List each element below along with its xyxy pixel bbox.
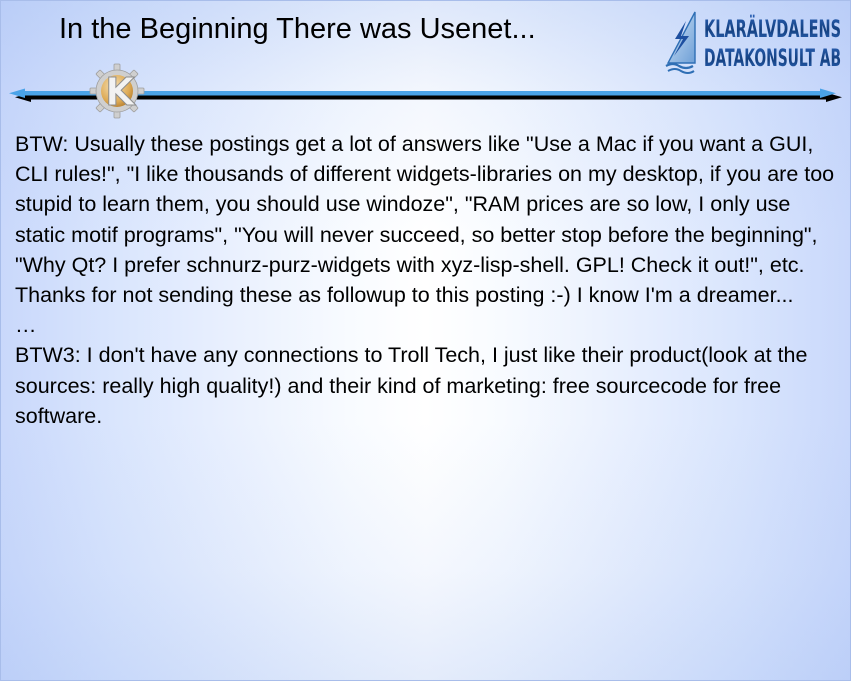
- body-paragraph-2: BTW3: I don't have any connections to Tr…: [15, 340, 839, 431]
- kdab-logo-line2: DATAKONSULT AB: [704, 44, 841, 72]
- body-paragraph-1: BTW: Usually these postings get a lot of…: [15, 129, 839, 310]
- slide-title: In the Beginning There was Usenet...: [59, 11, 659, 47]
- kdab-logo: KLARÄLVDALENS DATAKONSULT AB: [664, 9, 844, 75]
- kde-letter-k: K: [105, 70, 136, 114]
- presentation-slide: In the Beginning There was Usenet...: [0, 0, 851, 681]
- slide-body: BTW: Usually these postings get a lot of…: [15, 129, 839, 431]
- kde-logo: K: [89, 63, 145, 119]
- kdab-logo-line1: KLARÄLVDALENS: [704, 14, 841, 43]
- body-paragraph-ellipsis: …: [15, 310, 839, 340]
- sail-lightning-icon: [666, 12, 695, 73]
